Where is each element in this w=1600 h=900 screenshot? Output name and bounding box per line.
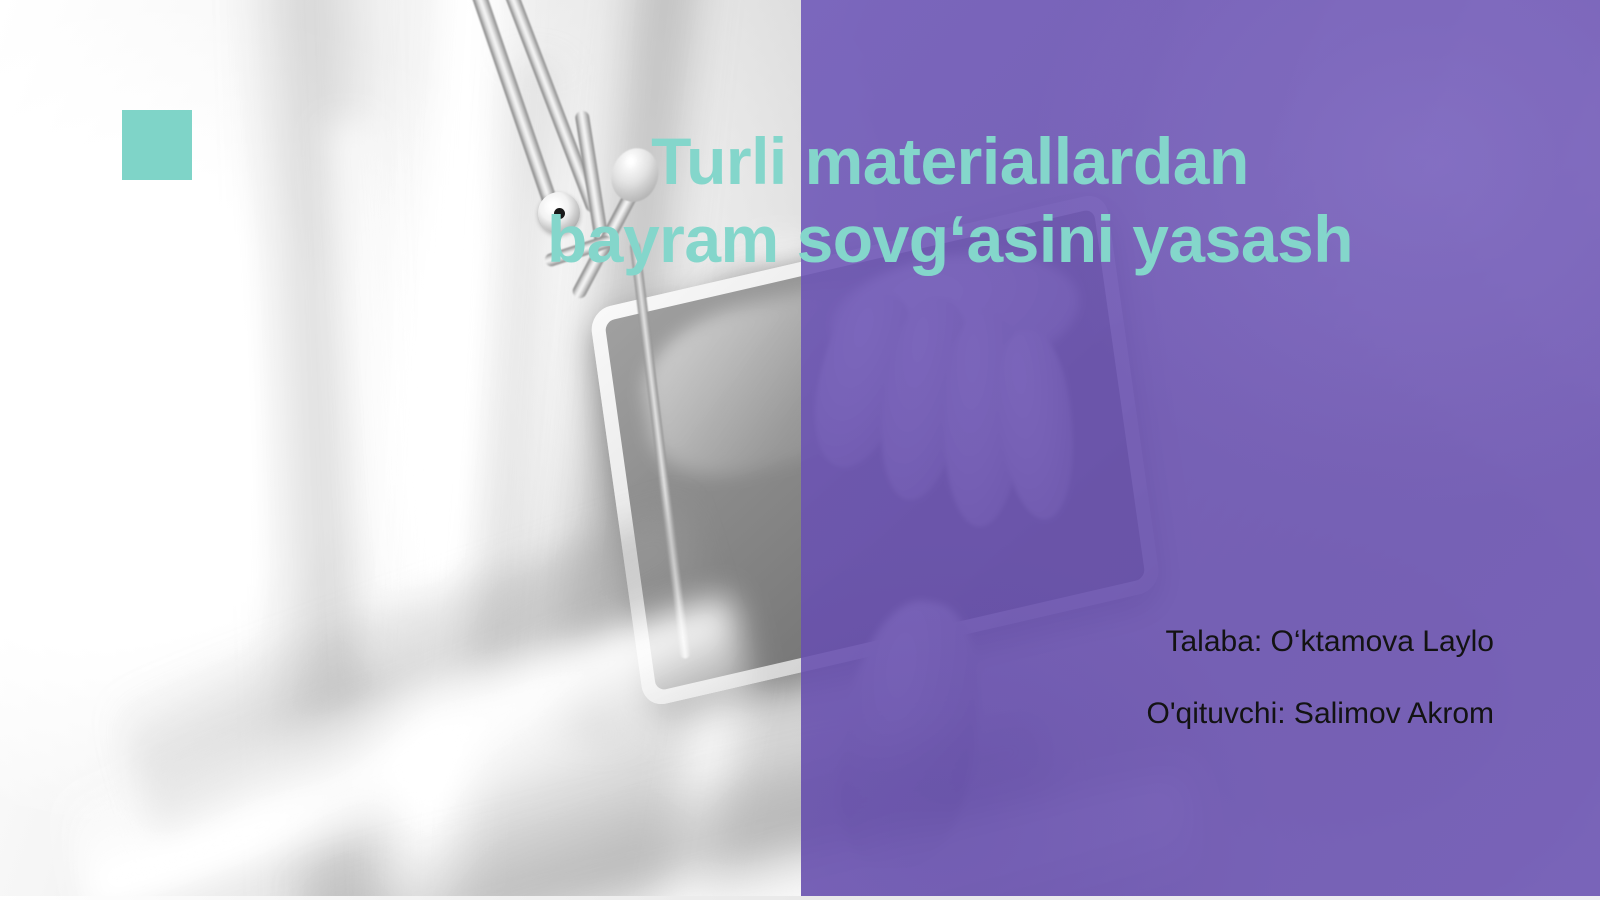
credits-block: Talaba: O‘ktamova Laylo O'qituvchi: Sali… (900, 624, 1494, 732)
credit-student: Talaba: O‘ktamova Laylo (900, 624, 1494, 660)
slide-title: Turli materiallardan bayram sovg‘asini y… (500, 122, 1400, 278)
slide-bottom-edge (0, 896, 1600, 900)
credit-teacher: O'qituvchi: Salimov Akrom (900, 696, 1494, 732)
credit-spacer (900, 660, 1494, 696)
title-slide: Turli materiallardan bayram sovg‘asini y… (0, 0, 1600, 900)
accent-square (122, 110, 192, 180)
